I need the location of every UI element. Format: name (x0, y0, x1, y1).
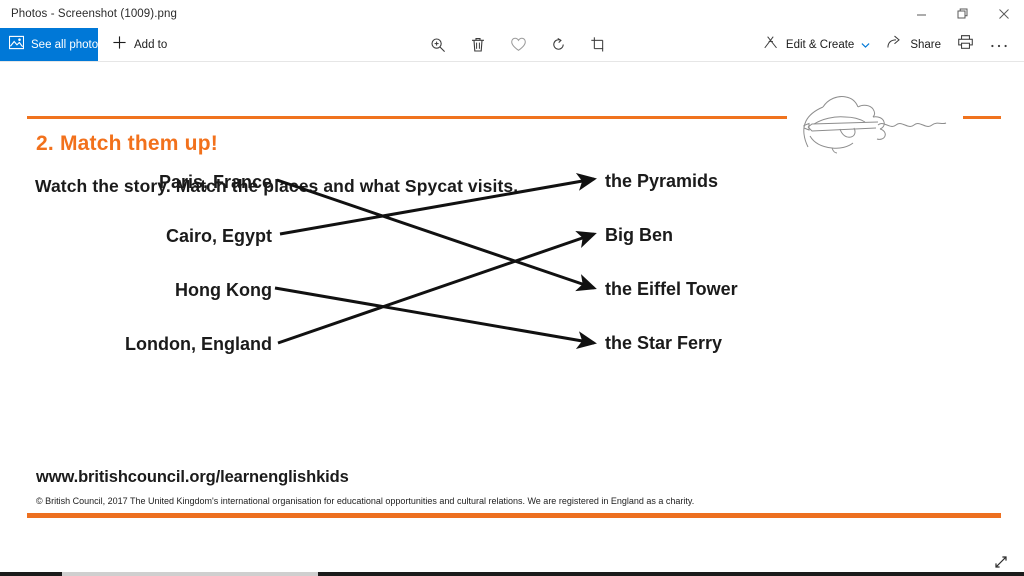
page-title: 2. Match them up! (36, 132, 218, 156)
add-to-label: Add to (134, 39, 167, 51)
more-options-button[interactable] (982, 28, 1016, 61)
window-title: Photos - Screenshot (1009).png (0, 8, 177, 20)
share-icon (886, 34, 903, 55)
add-to-button[interactable]: Add to (112, 28, 167, 61)
plus-icon (112, 35, 127, 55)
edit-and-create-label: Edit & Create (786, 39, 854, 51)
close-button[interactable] (983, 0, 1024, 28)
place-paris[interactable]: Paris, France (159, 172, 272, 193)
share-label: Share (910, 39, 941, 51)
crop-icon[interactable] (578, 28, 618, 61)
top-rule-right (963, 116, 1001, 119)
print-button[interactable] (949, 28, 982, 61)
chevron-down-icon (861, 36, 870, 54)
match-line-london-bigben (278, 234, 594, 343)
bottom-bar (0, 550, 1024, 572)
hand-with-pencil-icon (790, 89, 965, 154)
instruction-text: Watch the story. Match the places and wh… (35, 176, 518, 197)
expand-icon[interactable] (988, 552, 1014, 572)
edit-and-create-button[interactable]: Edit & Create (755, 28, 878, 61)
place-hong-kong[interactable]: Hong Kong (175, 280, 272, 301)
window-controls (901, 0, 1024, 28)
title-bar: Photos - Screenshot (1009).png (0, 0, 1024, 28)
restore-button[interactable] (942, 0, 983, 28)
share-button[interactable]: Share (878, 28, 949, 61)
top-rule-left (27, 116, 787, 119)
bottom-rule (27, 513, 1001, 518)
ellipsis-icon (990, 36, 1008, 54)
toolbar: See all photos Add to (0, 28, 1024, 61)
delete-icon[interactable] (458, 28, 498, 61)
landmark-star-ferry[interactable]: the Star Ferry (605, 333, 722, 354)
printer-icon (957, 34, 974, 55)
place-london[interactable]: London, England (125, 334, 272, 355)
edit-create-icon (763, 34, 779, 55)
toolbar-center-icons (418, 28, 618, 61)
see-all-photos-label: See all photos (31, 39, 104, 51)
rotate-icon[interactable] (538, 28, 578, 61)
footer-url: www.britishcouncil.org/learnenglishkids (36, 468, 349, 487)
zoom-icon[interactable] (418, 28, 458, 61)
landmark-eiffel-tower[interactable]: the Eiffel Tower (605, 279, 738, 300)
photos-icon (9, 35, 24, 55)
worksheet-image[interactable]: 2. Match them up! Watch the story. Match… (0, 62, 1024, 550)
taskbar-segment-left (0, 572, 62, 576)
see-all-photos-button[interactable]: See all photos (0, 28, 98, 61)
heart-icon[interactable] (498, 28, 538, 61)
photos-app-window: Photos - Screenshot (1009).png (0, 0, 1024, 576)
taskbar-segment-right (318, 572, 1024, 576)
landmark-pyramids[interactable]: the Pyramids (605, 171, 718, 192)
landmark-big-ben[interactable]: Big Ben (605, 225, 673, 246)
match-line-hk-ferry (275, 288, 594, 343)
minimize-button[interactable] (901, 0, 942, 28)
place-cairo[interactable]: Cairo, Egypt (166, 226, 272, 247)
toolbar-right-group: Edit & Create Share (755, 28, 1016, 61)
footer-copyright: © British Council, 2017 The United Kingd… (36, 496, 694, 506)
